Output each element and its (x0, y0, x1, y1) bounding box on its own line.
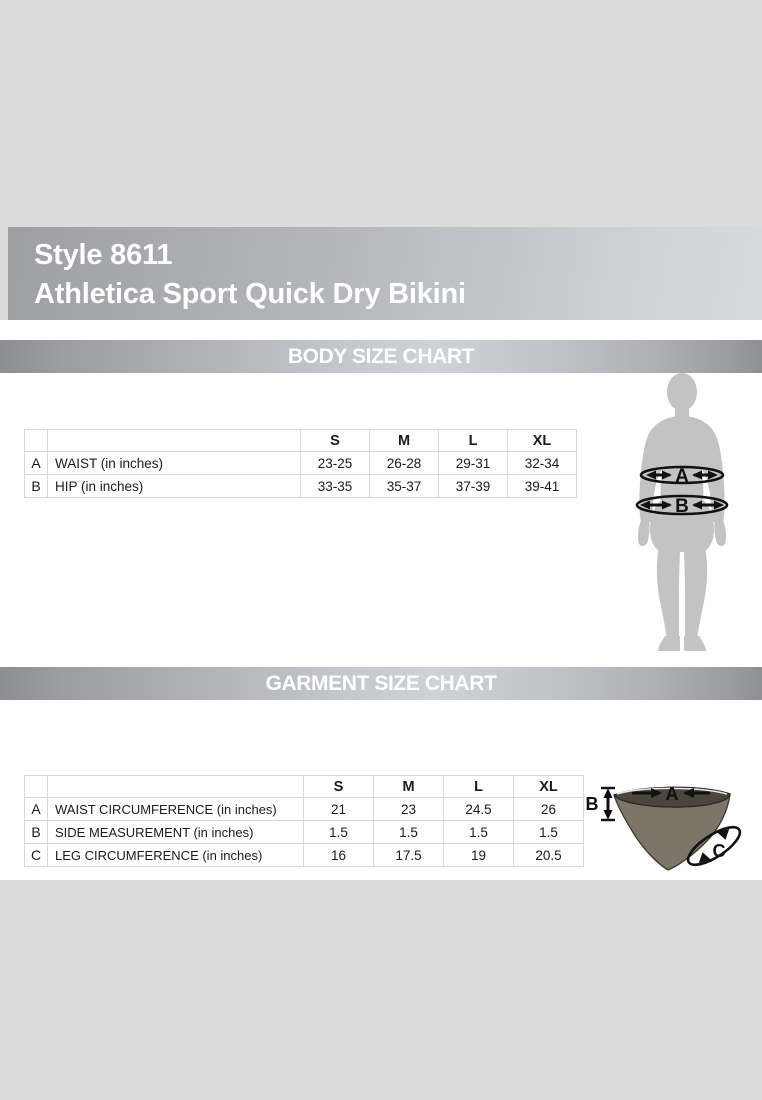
waist-marker-a-letter: A (666, 784, 679, 804)
garment-row-1-value-m: 1.5 (374, 821, 444, 844)
garment-header-size-xl: XL (514, 776, 584, 798)
body-row-1-label: HIP (in inches) (48, 475, 301, 498)
body-row-1-value-xl: 39-41 (508, 475, 577, 498)
body-row-1-value-s: 33-35 (301, 475, 370, 498)
garment-row-2-key: C (25, 844, 48, 867)
side-marker-b-letter: B (586, 794, 599, 814)
garment-row-2-value-m: 17.5 (374, 844, 444, 867)
body-row-0-key: A (25, 452, 48, 475)
bikini-bottom-figure: A B C (586, 770, 758, 875)
garment-header-key-blank (25, 776, 48, 798)
garment-row-1-key: B (25, 821, 48, 844)
table-row: B SIDE MEASUREMENT (in inches) 1.5 1.5 1… (25, 821, 584, 844)
body-row-1-key: B (25, 475, 48, 498)
size-chart-page: Style 8611 Athletica Sport Quick Dry Bik… (0, 0, 762, 1100)
garment-row-0-value-l: 24.5 (444, 798, 514, 821)
body-row-0-value-s: 23-25 (301, 452, 370, 475)
garment-size-table: S M L XL A WAIST CIRCUMFERENCE (in inche… (24, 775, 584, 867)
garment-row-0-label: WAIST CIRCUMFERENCE (in inches) (48, 798, 304, 821)
body-row-1-value-l: 37-39 (439, 475, 508, 498)
section-header-garment: GARMENT SIZE CHART (0, 667, 762, 700)
garment-row-1-value-xl: 1.5 (514, 821, 584, 844)
table-row: A WAIST CIRCUMFERENCE (in inches) 21 23 … (25, 798, 584, 821)
leg-marker-c-letter: C (713, 841, 726, 861)
garment-header-size-s: S (304, 776, 374, 798)
body-row-0-value-m: 26-28 (370, 452, 439, 475)
table-header-row: S M L XL (25, 430, 577, 452)
garment-header-size-l: L (444, 776, 514, 798)
garment-row-1-label: SIDE MEASUREMENT (in inches) (48, 821, 304, 844)
title-banner: Style 8611 Athletica Sport Quick Dry Bik… (8, 227, 762, 320)
side-marker-b: B (586, 788, 615, 820)
body-row-1-value-m: 35-37 (370, 475, 439, 498)
garment-row-2-value-xl: 20.5 (514, 844, 584, 867)
body-header-key-blank (25, 430, 48, 452)
body-size-table: S M L XL A WAIST (in inches) 23-25 26-28… (24, 429, 577, 498)
garment-row-2-value-l: 19 (444, 844, 514, 867)
garment-row-1-value-s: 1.5 (304, 821, 374, 844)
hip-marker-b-letter: B (675, 496, 689, 517)
section-header-body-label: BODY SIZE CHART (288, 340, 474, 373)
table-row: A WAIST (in inches) 23-25 26-28 29-31 32… (25, 452, 577, 475)
table-row: B HIP (in inches) 33-35 35-37 37-39 39-4… (25, 475, 577, 498)
garment-row-1-value-l: 1.5 (444, 821, 514, 844)
body-header-size-s: S (301, 430, 370, 452)
garment-header-desc-blank (48, 776, 304, 798)
product-name: Athletica Sport Quick Dry Bikini (34, 274, 762, 314)
garment-row-0-value-xl: 26 (514, 798, 584, 821)
garment-row-2-value-s: 16 (304, 844, 374, 867)
body-row-0-value-xl: 32-34 (508, 452, 577, 475)
table-row: C LEG CIRCUMFERENCE (in inches) 16 17.5 … (25, 844, 584, 867)
garment-row-0-value-s: 21 (304, 798, 374, 821)
body-header-size-xl: XL (508, 430, 577, 452)
garment-row-0-key: A (25, 798, 48, 821)
body-row-0-label: WAIST (in inches) (48, 452, 301, 475)
style-number: Style 8611 (34, 236, 762, 274)
garment-row-2-label: LEG CIRCUMFERENCE (in inches) (48, 844, 304, 867)
table-header-row: S M L XL (25, 776, 584, 798)
body-row-0-value-l: 29-31 (439, 452, 508, 475)
section-header-body: BODY SIZE CHART (0, 340, 762, 373)
body-header-size-m: M (370, 430, 439, 452)
body-silhouette-figure: A B (612, 372, 752, 660)
body-header-size-l: L (439, 430, 508, 452)
waist-marker-a-letter: A (675, 466, 689, 487)
section-header-garment-label: GARMENT SIZE CHART (266, 667, 497, 700)
garment-row-0-value-m: 23 (374, 798, 444, 821)
body-header-desc-blank (48, 430, 301, 452)
garment-header-size-m: M (374, 776, 444, 798)
